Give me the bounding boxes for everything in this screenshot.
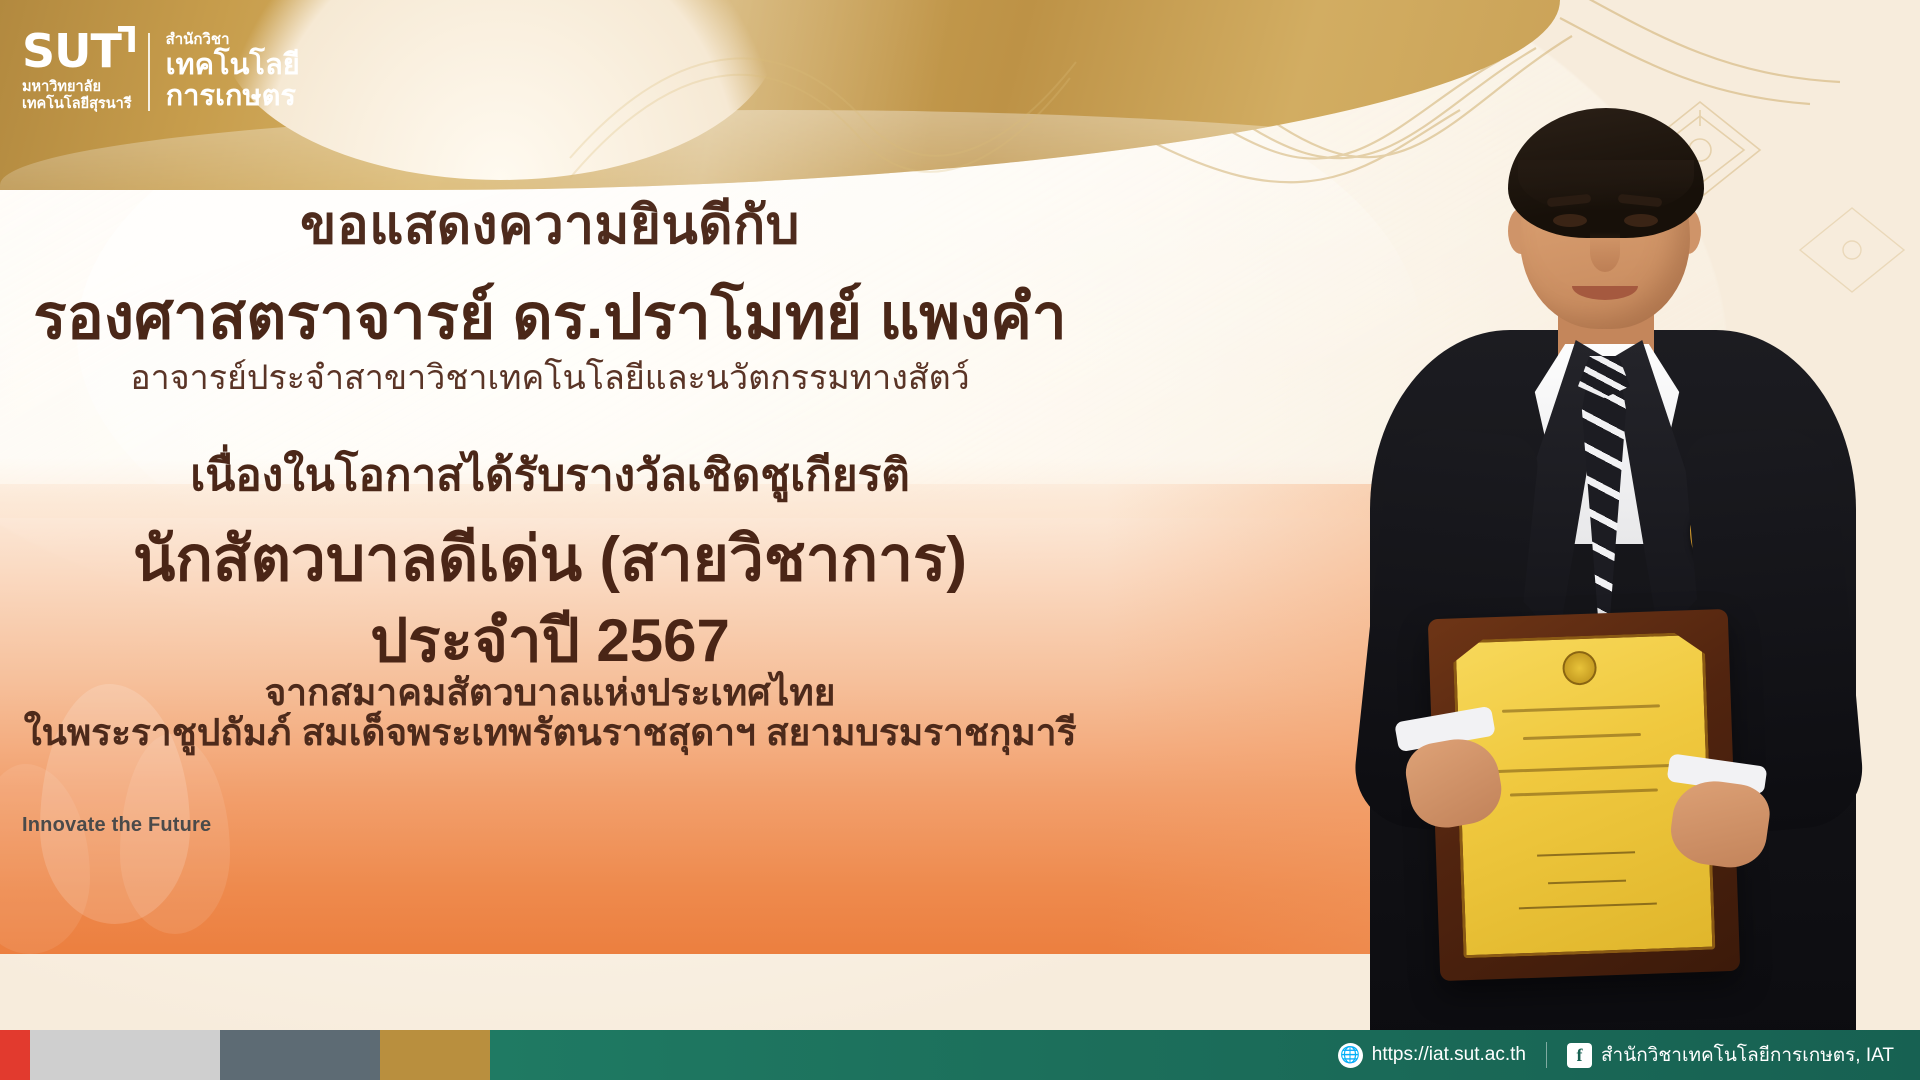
award-occasion: เนื่องในโอกาสได้รับรางวัลเชิดชูเกียรติ [0,440,1100,510]
sut-logo-mark: SUT มหาวิทยาลัย เทคโนโลยีสุรนารี [22,30,132,114]
globe-icon: 🌐 [1338,1043,1363,1068]
facebook-icon: f [1567,1043,1592,1068]
footer-accent-red [0,1030,30,1080]
footer-bar: 🌐 https://iat.sut.ac.th f สำนักวิชาเทคโน… [0,1030,1920,1080]
footer-website[interactable]: 🌐 https://iat.sut.ac.th [1338,1043,1526,1068]
honoree-photo [1220,0,1920,1055]
footer-facebook[interactable]: f สำนักวิชาเทคโนโลยีการเกษตร, IAT [1567,1040,1894,1070]
footer-facebook-label: สำนักวิชาเทคโนโลยีการเกษตร, IAT [1601,1040,1894,1070]
footer-divider [1546,1042,1547,1068]
institute-line2: การเกษตร [166,81,300,112]
poster-canvas: SUT มหาวิทยาลัย เทคโนโลยีสุรนารี สำนักวิ… [0,0,1920,1080]
honoree-figure [1220,0,1920,1055]
eye-right [1624,214,1658,227]
tagline: Innovate the Future [22,814,211,837]
honoree-position: อาจารย์ประจำสาขาวิชาเทคโนโลยีและนวัตกรรม… [0,350,1100,404]
university-name-line2: เทคโนโลยีสุรนารี [22,96,132,114]
institute-name: สำนักวิชา เทคโนโลยี การเกษตร [166,32,300,113]
sut-acronym: SUT [22,24,121,78]
plaque-seal-icon [1562,650,1597,685]
footer-contact-bar: 🌐 https://iat.sut.ac.th f สำนักวิชาเทคโน… [490,1030,1920,1080]
sut-logo: SUT มหาวิทยาลัย เทคโนโลยีสุรนารี สำนักวิ… [22,30,300,114]
institute-prefix: สำนักวิชา [166,32,300,47]
university-name-line1: มหาวิทยาลัย [22,79,132,97]
footer-website-label: https://iat.sut.ac.th [1372,1044,1526,1066]
nose [1590,232,1620,272]
eye-left [1553,214,1587,227]
footer-accent-gold [380,1030,490,1080]
footer-accent-slate [220,1030,380,1080]
institute-line1: เทคโนโลยี [166,50,300,81]
footer-accent-gray [30,1030,220,1080]
logo-divider [148,33,150,111]
award-royal-patron: ในพระราชูปถัมภ์ สมเด็จพระเทพรัตนราชสุดาฯ… [0,703,1100,762]
congratulations-line: ขอแสดงความยินดีกับ [0,183,1100,267]
